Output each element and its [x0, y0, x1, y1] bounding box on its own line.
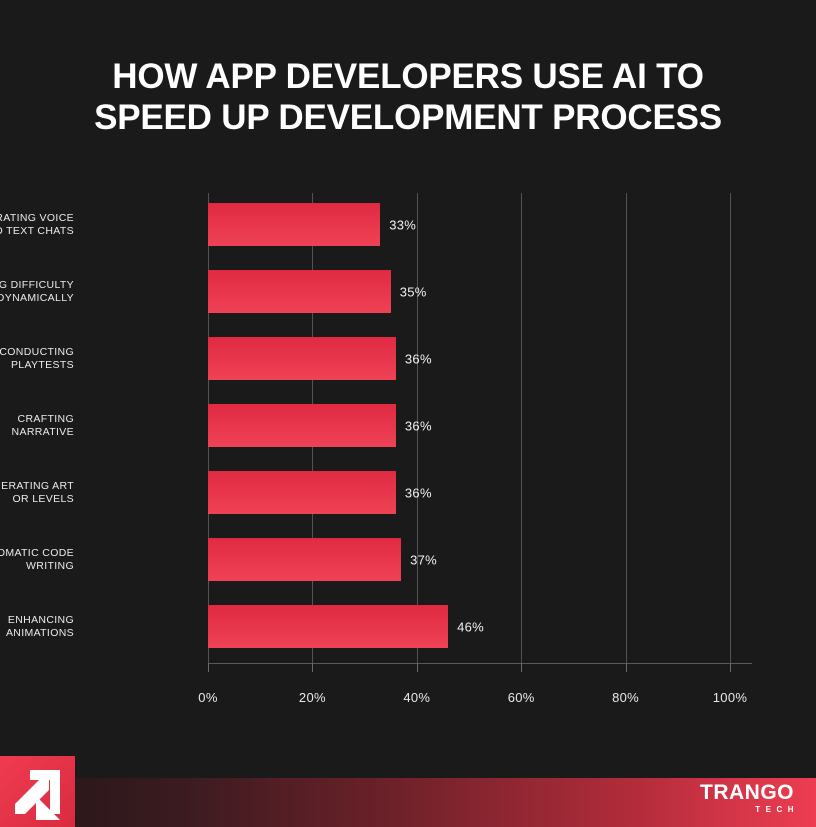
bar-value-label: 35%	[400, 284, 427, 299]
bar-row: 36%	[208, 404, 730, 447]
trango-logo-mark	[0, 756, 75, 827]
x-tick	[521, 663, 522, 672]
bar	[208, 605, 448, 648]
x-tick-label: 80%	[586, 690, 666, 705]
bar-chart: 0%20%40%60%80%100% 33%35%36%36%36%37%46%…	[0, 0, 816, 745]
x-tick	[208, 663, 209, 672]
bar	[208, 270, 391, 313]
bar	[208, 337, 396, 380]
brand-lockup: TRANGO TECH	[700, 782, 794, 815]
bar-value-label: 36%	[405, 418, 432, 433]
category-label-line: AUTOMATIC CODE	[0, 547, 74, 560]
gridline	[730, 193, 731, 663]
category-label: AUTOMATIC CODEWRITING	[0, 547, 74, 573]
x-tick	[730, 663, 731, 672]
category-label: MODERATING VOICEAND TEXT CHATS	[0, 212, 74, 238]
bar-value-label: 46%	[457, 619, 484, 634]
bar-value-label: 33%	[389, 217, 416, 232]
bar-row: 33%	[208, 203, 730, 246]
category-label: CRAFTINGNARRATIVE	[0, 413, 74, 439]
footer	[0, 745, 816, 827]
bar	[208, 471, 396, 514]
x-tick	[417, 663, 418, 672]
footer-gradient-band	[0, 778, 816, 827]
category-label: GENERATING ARTOR LEVELS	[0, 480, 74, 506]
x-tick-label: 60%	[481, 690, 561, 705]
bar-row: 37%	[208, 538, 730, 581]
category-label-line: CRAFTING	[0, 413, 74, 426]
x-tick-label: 20%	[272, 690, 352, 705]
category-label: CONDUCTINGPLAYTESTS	[0, 346, 74, 372]
bar-row: 46%	[208, 605, 730, 648]
brand-subtitle: TECH	[700, 804, 799, 815]
category-label-line: OR LEVELS	[0, 493, 74, 506]
x-tick	[312, 663, 313, 672]
category-label-line: LEVELS DYNAMICALLY	[0, 292, 74, 305]
bar-value-label: 37%	[410, 552, 437, 567]
category-label-line: CONDUCTING	[0, 346, 74, 359]
category-label-line: NARRATIVE	[0, 426, 74, 439]
category-label-line: GENERATING ART	[0, 480, 74, 493]
category-label-line: PLAYTESTS	[0, 359, 74, 372]
infographic-page: HOW APP DEVELOPERS USE AI TO SPEED UP DE…	[0, 0, 816, 827]
x-axis-line	[208, 663, 752, 664]
category-label-line: MODERATING VOICE	[0, 212, 74, 225]
bar	[208, 203, 380, 246]
category-label: ENHANCINGANIMATIONS	[0, 614, 74, 640]
bar-row: 36%	[208, 471, 730, 514]
x-tick	[626, 663, 627, 672]
bar	[208, 404, 396, 447]
category-label: ADAPTING DIFFICULTYLEVELS DYNAMICALLY	[0, 279, 74, 305]
x-tick-label: 0%	[168, 690, 248, 705]
category-label-line: WRITING	[0, 560, 74, 573]
bar	[208, 538, 401, 581]
category-label-line: ANIMATIONS	[0, 627, 74, 640]
arrow-up-right-icon	[0, 756, 75, 827]
category-label-line: ENHANCING	[0, 614, 74, 627]
bar-value-label: 36%	[405, 485, 432, 500]
bar-value-label: 36%	[405, 351, 432, 366]
category-label-line: ADAPTING DIFFICULTY	[0, 279, 74, 292]
x-tick-label: 100%	[690, 690, 770, 705]
brand-name: TRANGO	[700, 782, 794, 804]
bar-row: 36%	[208, 337, 730, 380]
category-label-line: AND TEXT CHATS	[0, 225, 74, 238]
bar-row: 35%	[208, 270, 730, 313]
x-tick-label: 40%	[377, 690, 457, 705]
